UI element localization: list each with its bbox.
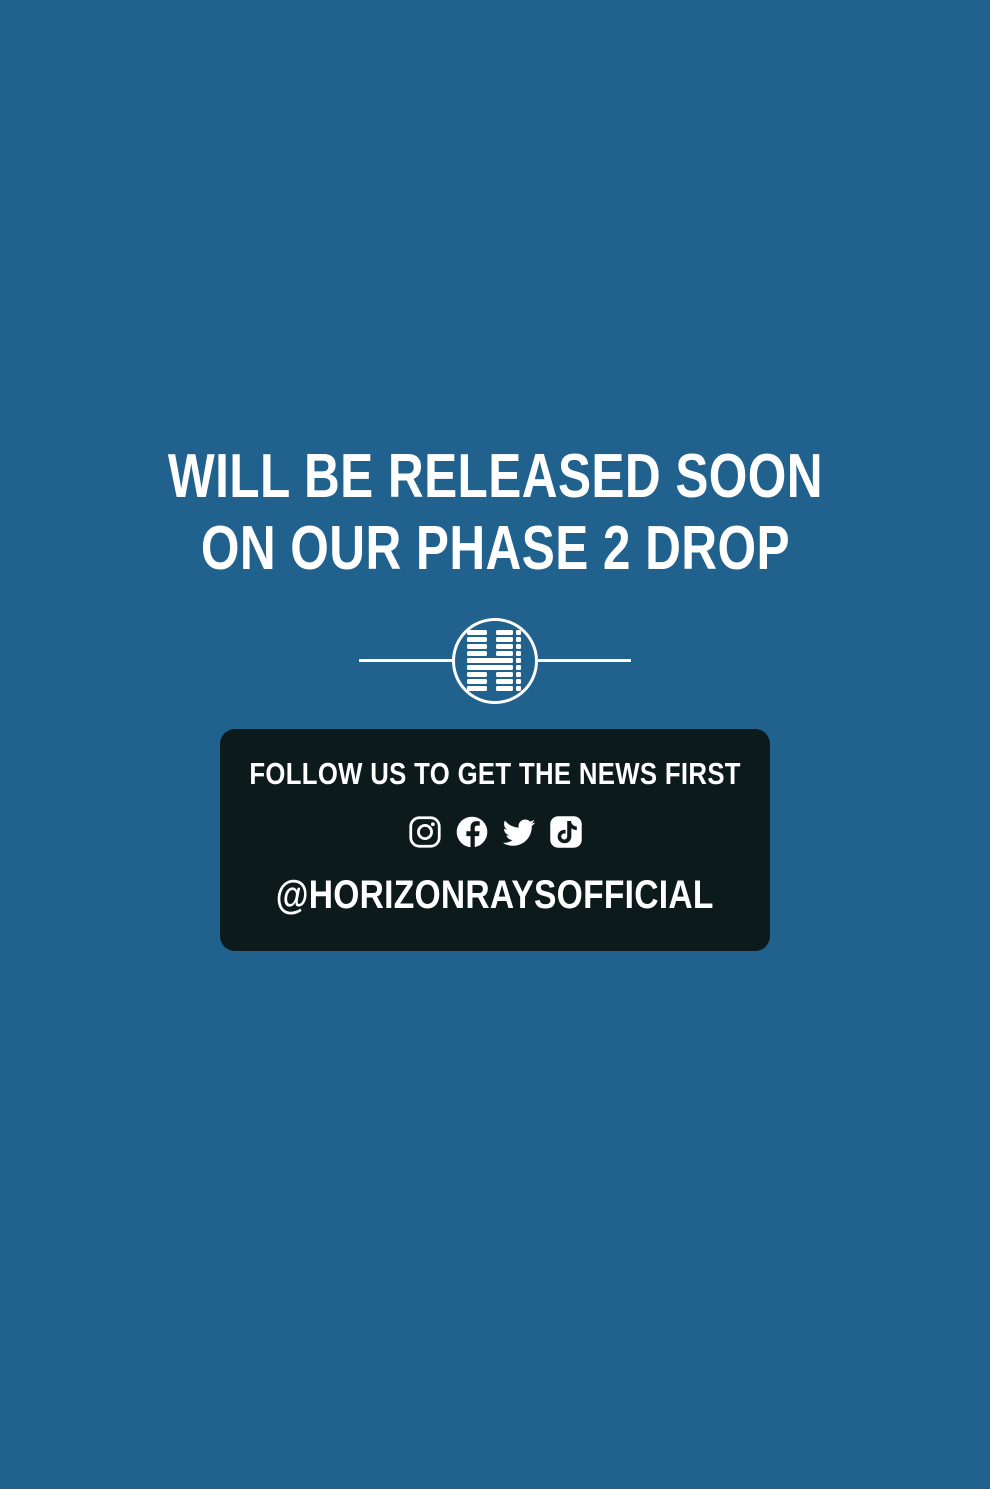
- facebook-icon[interactable]: [455, 815, 489, 849]
- twitter-icon[interactable]: [502, 815, 536, 849]
- follow-us-card: FOLLOW US TO GET THE NEWS FIRST: [220, 729, 770, 951]
- instagram-icon[interactable]: [408, 815, 442, 849]
- brand-logo-lockup: [359, 616, 631, 706]
- divider-rule-right: [535, 659, 631, 662]
- divider-rule-left: [359, 659, 455, 662]
- headline-line-1: WILL BE RELEASED SOON: [167, 441, 822, 513]
- announcement-stage: WILL BE RELEASED SOON ON OUR PHASE 2 DRO…: [0, 0, 990, 1489]
- headline-line-2: ON OUR PHASE 2 DROP: [167, 513, 822, 585]
- logo-circle-frame: [452, 618, 538, 704]
- social-handle: @HORIZONRAYSOFFICIAL: [276, 873, 714, 917]
- social-links-row: [408, 815, 583, 849]
- tiktok-icon[interactable]: [549, 815, 583, 849]
- page-title: WILL BE RELEASED SOON ON OUR PHASE 2 DRO…: [167, 441, 822, 585]
- follow-card-title: FOLLOW US TO GET THE NEWS FIRST: [249, 757, 741, 791]
